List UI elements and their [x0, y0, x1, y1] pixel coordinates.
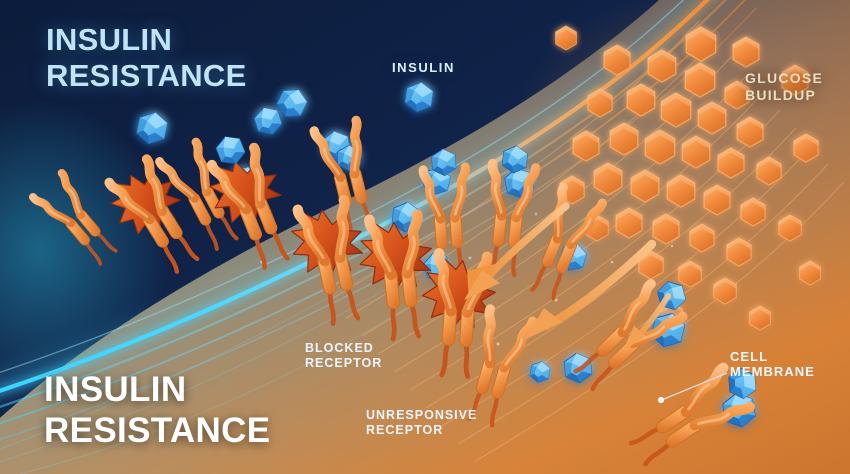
- glucose-hexagon-icon: [616, 208, 642, 238]
- glucose-hexagon-icon: [648, 50, 676, 82]
- glucose-hexagon-icon: [610, 123, 638, 155]
- glucose-hexagon-icon: [794, 134, 818, 162]
- glucose-hexagon-icon: [690, 224, 714, 252]
- glucose-hexagon-icon: [556, 26, 577, 50]
- glucose-hexagon-icon: [718, 148, 744, 178]
- blocked-receptor: [99, 154, 215, 284]
- glucose-hexagon-icon: [782, 65, 808, 95]
- insulin-molecule-icon: [502, 145, 529, 175]
- insulin-molecule-icon: [404, 80, 434, 113]
- insulin-molecule-icon: [135, 109, 169, 146]
- glucose-hexagon-icon: [779, 215, 801, 241]
- insulin-molecule-icon: [529, 360, 551, 384]
- glucose-hexagon-icon: [741, 198, 765, 226]
- glucose-hexagon-icon: [594, 163, 622, 195]
- insulin-receptors: [33, 120, 768, 473]
- insulin-molecule-icon: [213, 132, 247, 168]
- glucose-hexagon-icon: [714, 278, 736, 304]
- glucose-hexagon-icon: [631, 170, 659, 202]
- glucose-hexagon-icon: [573, 131, 599, 161]
- glucose-hexagon-icon: [750, 306, 771, 330]
- insulin-molecule-icon: [723, 364, 762, 402]
- glucose-hexagon-icon: [679, 261, 701, 287]
- glucose-hexagon-icon: [653, 214, 679, 244]
- glucose-hexagon-icon: [733, 37, 759, 67]
- glucose-hexagon-icon: [800, 261, 821, 285]
- insulin-molecule-icon: [252, 104, 284, 138]
- glucose-hexagon-icon: [757, 157, 781, 185]
- glucose-hexagon-icon: [727, 238, 751, 266]
- glucose-hexagon-icon: [661, 93, 690, 127]
- glucose-hexagon-icon: [627, 84, 655, 116]
- glucose-hexagon-icon: [645, 130, 674, 164]
- glucose-hexagon-icon: [686, 27, 715, 61]
- illustration-canvas: INSULIN RESISTANCE INSULIN RESISTANCE IN…: [0, 0, 850, 474]
- glucose-hexagon-icon: [704, 185, 730, 215]
- glucose-hexagon-icon: [698, 102, 726, 134]
- glucose-hexagon-icon: [737, 117, 763, 147]
- glucose-hexagon-icon: [685, 63, 714, 97]
- glucose-hexagon-icon: [588, 89, 612, 117]
- glucose-hexagon-icon: [604, 45, 630, 75]
- glucose-hexagon-icon: [682, 136, 710, 168]
- glucose-cluster: [556, 26, 821, 330]
- molecules-layer: [0, 0, 850, 474]
- glucose-hexagon-icon: [725, 81, 749, 109]
- glucose-hexagon-icon: [667, 175, 695, 207]
